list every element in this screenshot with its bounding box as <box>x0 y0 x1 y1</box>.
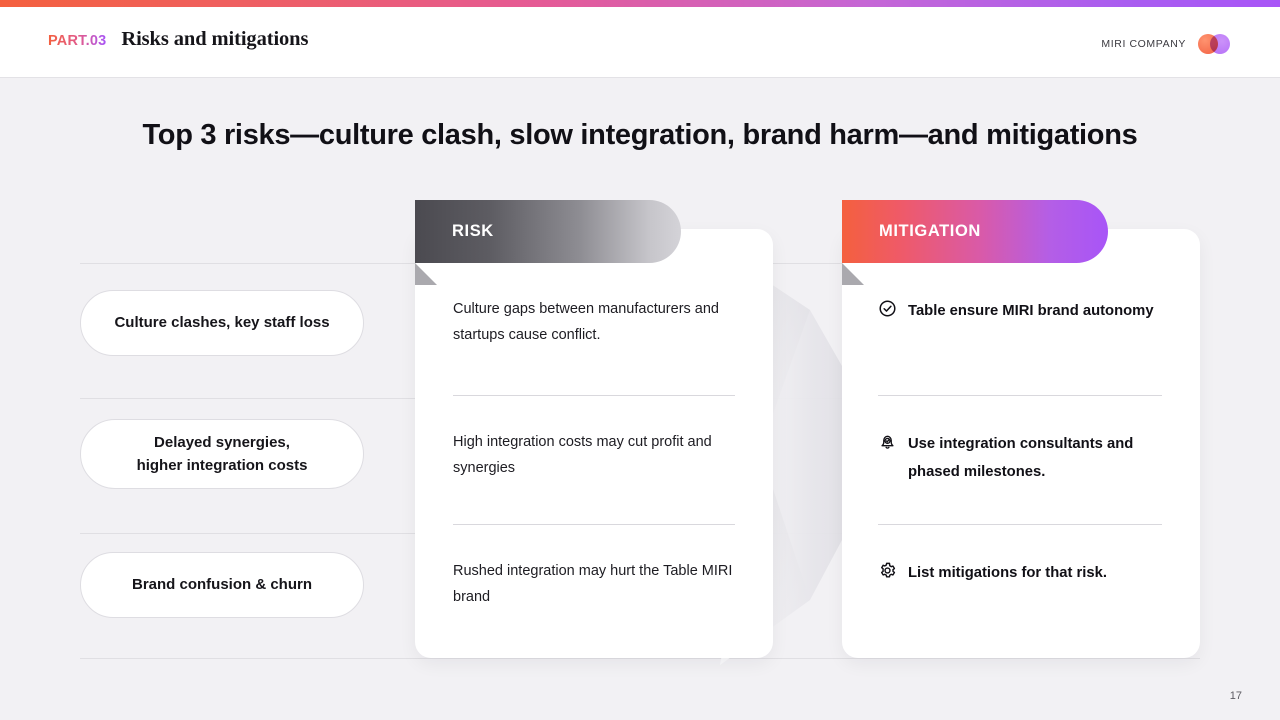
risk-pill-3-label: Brand confusion & churn <box>132 573 312 596</box>
risk-ribbon-header: RISK <box>415 200 681 263</box>
page-title: Top 3 risks—culture clash, slow integrat… <box>0 119 1280 152</box>
mitigation-column-card: Table ensure MIRI brand autonomy Use int… <box>842 229 1200 658</box>
mitigation-ribbon-fold <box>842 263 864 285</box>
top-gradient-bar <box>0 0 1280 7</box>
risk-pill-2[interactable]: Delayed synergies, higher integration co… <box>80 419 364 489</box>
header-left-group: PART.03 Risks and mitigations <box>48 28 308 51</box>
risk-pill-3[interactable]: Brand confusion & churn <box>80 552 364 618</box>
risk-row-2: High integration costs may cut profit an… <box>453 430 735 482</box>
risk-row-1: Culture gaps between manufacturers and s… <box>453 297 735 349</box>
overlapping-circles-logo-icon <box>1198 34 1238 54</box>
slide-header: PART.03 Risks and mitigations MIRI COMPA… <box>0 7 1280 78</box>
gear-icon <box>878 561 897 580</box>
mitigation-row-1-text: Table ensure MIRI brand autonomy <box>908 297 1154 325</box>
risk-row-1-text: Culture gaps between manufacturers and s… <box>453 297 735 349</box>
mitigation-card-divider-2 <box>878 524 1162 525</box>
mitigation-ribbon-label: MITIGATION <box>879 222 981 241</box>
mitigation-row-3: List mitigations for that risk. <box>878 559 1168 587</box>
risk-column-card: Culture gaps between manufacturers and s… <box>415 229 773 658</box>
risk-row-3: Rushed integration may hurt the Table MI… <box>453 559 735 611</box>
risk-pill-1[interactable]: Culture clashes, key staff loss <box>80 290 364 356</box>
risk-pill-1-label: Culture clashes, key staff loss <box>114 311 329 334</box>
bell-check-icon <box>878 432 897 451</box>
mitigation-row-2-text: Use integration consultants and phased m… <box>908 430 1168 487</box>
risk-card-divider-1 <box>453 395 735 396</box>
slide-root: PART.03 Risks and mitigations MIRI COMPA… <box>0 0 1280 720</box>
risk-card-divider-2 <box>453 524 735 525</box>
mitigation-row-3-text: List mitigations for that risk. <box>908 559 1107 587</box>
page-number: 17 <box>1230 690 1242 702</box>
risk-pill-2-label: Delayed synergies, higher integration co… <box>137 431 308 478</box>
risk-row-2-text: High integration costs may cut profit an… <box>453 430 735 482</box>
risk-ribbon-fold <box>415 263 437 285</box>
mitigation-card-divider-1 <box>878 395 1162 396</box>
mitigation-row-1: Table ensure MIRI brand autonomy <box>878 297 1168 325</box>
risk-row-3-text: Rushed integration may hurt the Table MI… <box>453 559 735 611</box>
mitigation-ribbon-header: MITIGATION <box>842 200 1108 263</box>
risk-ribbon-label: RISK <box>452 222 494 241</box>
part-label: PART.03 <box>48 33 106 49</box>
background-divider-4 <box>80 658 1200 659</box>
header-brand-group: MIRI COMPANY <box>1101 34 1238 54</box>
check-circle-icon <box>878 299 897 318</box>
mitigation-row-2: Use integration consultants and phased m… <box>878 430 1168 487</box>
header-section-title: Risks and mitigations <box>121 28 308 51</box>
brand-name: MIRI COMPANY <box>1101 38 1186 50</box>
